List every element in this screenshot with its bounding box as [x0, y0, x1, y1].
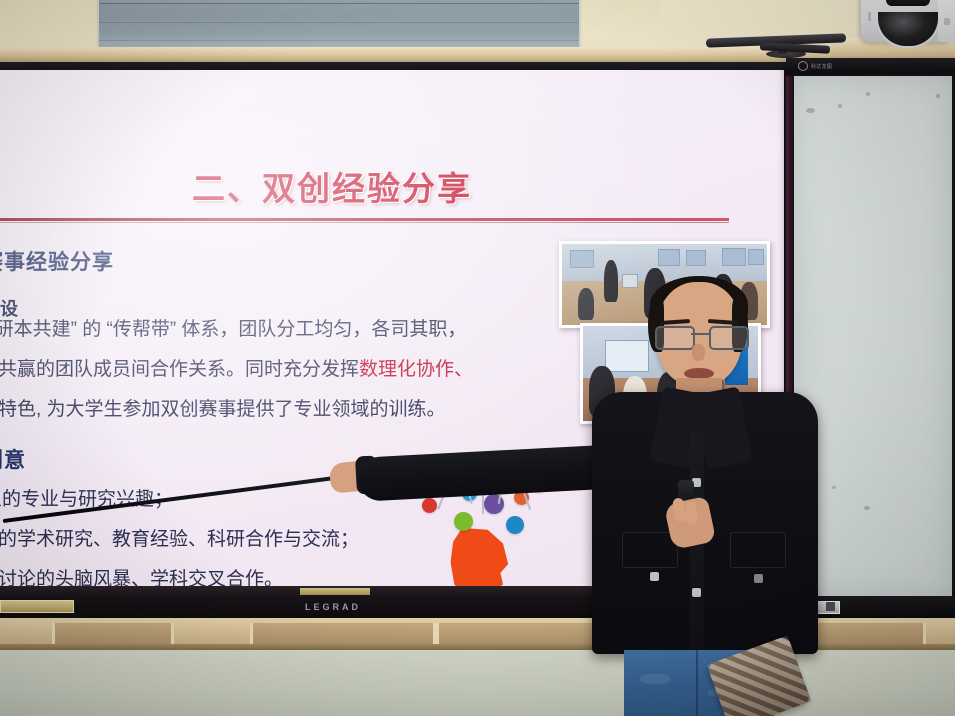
slide-body-line-3: 叉的特色, 为大学生参加双创赛事提供了专业领域的训练。 — [0, 400, 446, 421]
whiteboard-brand-logo: 科达龙图 — [798, 61, 832, 71]
brand-mark-icon — [798, 61, 808, 71]
idea-bubble-icon — [454, 512, 473, 531]
whiteboard-brand-text: 科达龙图 — [811, 63, 832, 70]
brain-head-icon — [448, 528, 512, 586]
display-sticker-center — [300, 588, 370, 595]
presenter-nose — [692, 344, 705, 361]
slide-body-line-5: 导师的学术研究、教育经验、科研合作与交流； — [0, 530, 359, 551]
slide-body-line-6: 团队讨论的头脑风暴、学科交叉合作。 — [0, 570, 283, 586]
title-divider-shadow — [0, 222, 729, 223]
projector-mount-mark — [868, 12, 871, 21]
slide-title: 二、双创经验分享 — [162, 162, 502, 210]
jacket-pocket-button — [754, 574, 763, 583]
jacket-button — [692, 588, 701, 597]
glasses-icon — [654, 326, 746, 346]
slide-minor-heading: 队建设 — [0, 295, 18, 321]
slide-section-heading-2: 新创意 — [0, 444, 26, 474]
slide-body-line-2-text: 和谐共赢的团队成员间合作关系。同时充分发挥 — [0, 359, 359, 380]
idea-bubble-icon — [484, 494, 504, 514]
slide-body-line-1: 了 “研本共建” 的 “传帮带” 体系，团队分工均匀，各司其职， — [0, 320, 466, 341]
display-brand-text: LEGRAD — [305, 602, 361, 612]
jacket-pocket-button — [650, 572, 659, 581]
jeans-seam — [696, 650, 698, 716]
classroom-scene: 科达龙图 二、双创经验分享 创赛事经验分享 队建设 了 “研本共建” 的 “传帮… — [0, 0, 955, 716]
title-divider — [0, 218, 729, 221]
projector-indicator-icon — [944, 18, 950, 25]
slide-section-heading-1: 创赛事经验分享 — [0, 246, 114, 276]
idea-bubble-icon — [422, 498, 437, 513]
ceiling-vent-panel — [98, 0, 580, 49]
projector-lens-housing — [886, 0, 930, 6]
idea-bubble-icon — [506, 516, 524, 534]
slide-body-line-2: 和谐共赢的团队成员间合作关系。同时充分发挥数理化协作、 — [0, 360, 473, 381]
slide-body-line-2-highlight: 数理化协作、 — [359, 359, 473, 380]
jacket-pocket-right — [730, 532, 786, 568]
presenter — [584, 282, 834, 716]
display-sticker-left — [0, 600, 74, 613]
